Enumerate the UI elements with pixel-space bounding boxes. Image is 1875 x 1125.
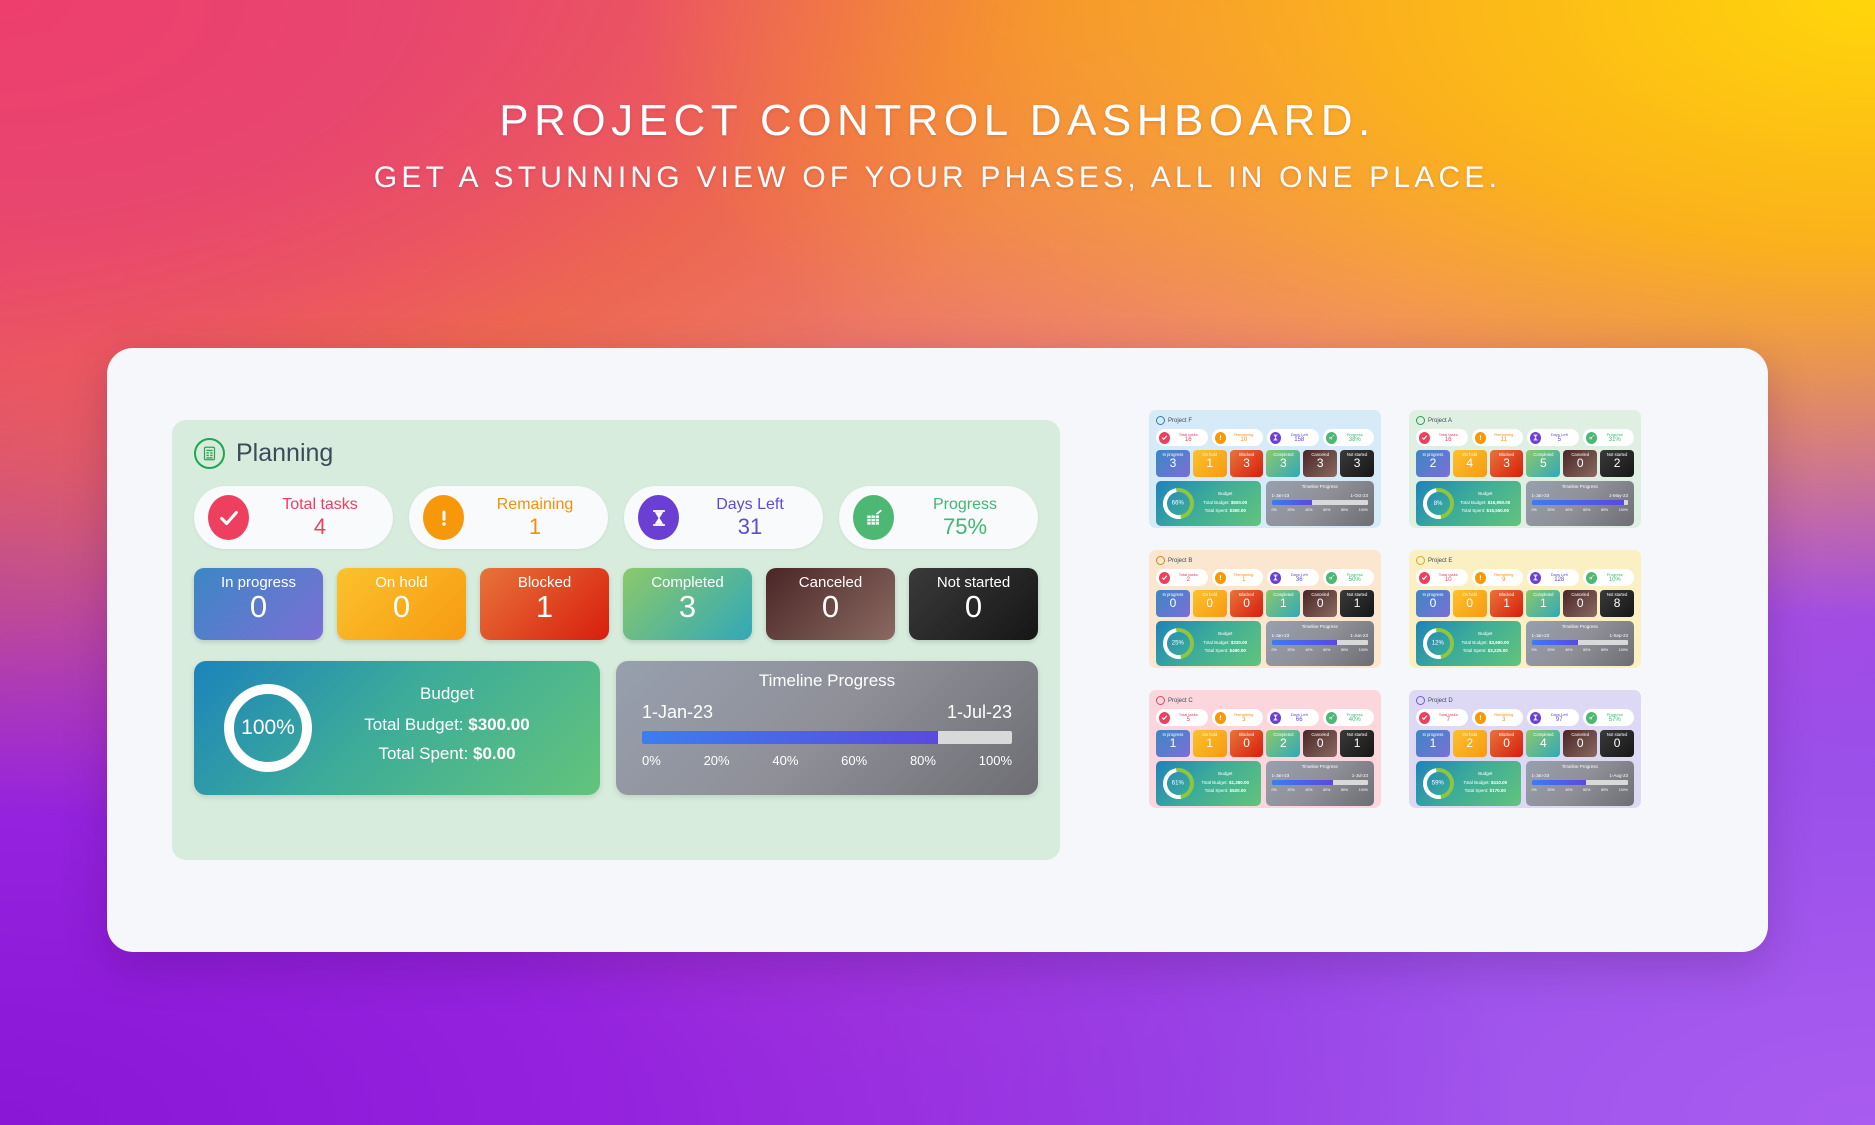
thumbnail-tick: 60% — [1583, 648, 1590, 652]
thumbnail-status-value: 0 — [1230, 597, 1264, 610]
thumbnail-status-row: In progress 1 On hold 1 Blocked 0 Comple… — [1156, 730, 1374, 757]
budget-title: Budget — [312, 684, 582, 704]
thumbnail-budget-card[interactable]: 66% Budget Total Budget: $500.00 Total S… — [1156, 481, 1261, 526]
thumbnail-total-spent-value: $170.00 — [1490, 788, 1506, 793]
thumbnail-kpi-row: Total tasks 10 Remaining 9 Days Left 1 — [1416, 569, 1634, 586]
total-spent-label: Total Spent: — [378, 744, 468, 763]
thumbnail-status-card[interactable]: Blocked 1 — [1490, 590, 1524, 617]
project-thumbnail[interactable]: Project A Total tasks 16 Remaining 11 — [1409, 410, 1641, 528]
thumbnail-tick: 0% — [1532, 648, 1537, 652]
total-budget-row: Total Budget: $300.00 — [312, 715, 582, 735]
status-value: 0 — [766, 589, 895, 625]
thumbnail-total-spent-label: Total Spent: — [1461, 508, 1485, 513]
thumbnail-total-budget-label: Total Budget: — [1201, 780, 1227, 785]
thumbnail-status-card[interactable]: In progress 0 — [1156, 590, 1190, 617]
thumbnail-budget-donut: 59% — [1417, 762, 1460, 805]
thumbnail-kpi-value: 1 — [1228, 577, 1261, 583]
thumbnail-tick: 80% — [1601, 508, 1608, 512]
thumbnail-tick: 100% — [1359, 648, 1368, 652]
thumbnail-status-card[interactable]: Completed 4 — [1526, 730, 1560, 757]
exclamation-icon — [1215, 432, 1226, 444]
thumbnail-timeline-dates: 1-Jan-23 1-Aug-23 — [1532, 773, 1629, 778]
thumbnail-timeline-start: 1-Jan-23 — [1272, 773, 1290, 778]
exclamation-icon — [423, 495, 464, 540]
thumbnail-tick: 0% — [1272, 508, 1277, 512]
thumbnail-budget-percent: 8% — [1434, 500, 1443, 506]
thumbnail-status-card[interactable]: In progress 3 — [1156, 450, 1190, 477]
project-thumbnail[interactable]: Project C Total tasks 5 Remaining 3 — [1149, 690, 1381, 808]
thumbnail-status-card[interactable]: Completed 3 — [1266, 450, 1300, 477]
exclamation-icon — [1475, 572, 1486, 584]
thumbnail-kpi[interactable]: Days Left 36 — [1267, 569, 1319, 586]
status-value: 0 — [909, 589, 1038, 625]
thumbnail-budget-percent: 66% — [1172, 500, 1184, 506]
thumbnail-kpi[interactable]: Remaining 3 — [1212, 709, 1264, 726]
exclamation-icon — [1475, 432, 1486, 444]
thumbnail-status-value: 1 — [1490, 597, 1524, 610]
thumbnail-total-spent: Total Spent: $3,225.00 — [1454, 648, 1517, 653]
status-card-not-started[interactable]: Not started 0 — [909, 568, 1038, 640]
thumbnail-kpi[interactable]: Progress 40% — [1323, 709, 1375, 726]
thumbnail-kpi-value: 158 — [1283, 437, 1316, 443]
thumbnail-total-budget-value: $16,950.00 — [1488, 500, 1511, 505]
thumbnail-kpi[interactable]: Progress 57% — [1583, 709, 1635, 726]
timeline-tick: 40% — [772, 753, 798, 768]
hourglass-icon — [638, 495, 679, 540]
thumbnail-total-budget: Total Budget: $1,350.00 — [1194, 780, 1257, 785]
project-thumbnail[interactable]: Project E Total tasks 10 Remaining 9 — [1409, 550, 1641, 668]
thumbnail-kpi[interactable]: Days Left 128 — [1527, 569, 1579, 586]
status-value: 0 — [194, 589, 323, 625]
thumbnail-kpi[interactable]: Remaining 11 — [1472, 429, 1524, 446]
thumbnail-status-row: In progress 1 On hold 2 Blocked 0 Comple… — [1416, 730, 1634, 757]
clipboard-icon — [1416, 696, 1425, 705]
thumbnail-timeline-title: Timeline Progress — [1532, 484, 1629, 489]
thumbnail-total-budget: Total Budget: $500.00 — [1194, 500, 1257, 505]
kpi-label: Remaining — [476, 496, 594, 514]
project-thumbnail[interactable]: Project B Total tasks 2 Remaining 1 — [1149, 550, 1381, 668]
thumbnail-kpi[interactable]: Remaining 3 — [1472, 709, 1524, 726]
thumbnail-status-card[interactable]: Canceled 0 — [1563, 450, 1597, 477]
thumbnail-tick: 80% — [1341, 648, 1348, 652]
thumbnail-tick: 60% — [1583, 788, 1590, 792]
hourglass-icon — [1270, 712, 1281, 724]
thumbnail-axis-ticks: 0%20%40%60%80%100% — [1532, 648, 1629, 652]
kpi-days-left[interactable]: Days Left 31 — [624, 486, 823, 549]
thumbnail-budget-card[interactable]: 59% Budget Total Budget: $410.00 Total S… — [1416, 761, 1521, 806]
thumbnail-total-budget-label: Total Budget: — [1203, 500, 1229, 505]
thumbnail-kpi-value: 11 — [1488, 437, 1521, 443]
thumbnail-status-value: 2 — [1266, 737, 1300, 750]
thumbnail-status-value: 1 — [1526, 597, 1560, 610]
thumbnail-header: Project C — [1156, 696, 1374, 705]
thumbnail-status-value: 0 — [1490, 737, 1524, 750]
thumbnail-tick: 40% — [1565, 508, 1572, 512]
thumbnail-budget-donut: 61% — [1157, 762, 1200, 805]
thumbnail-timeline-start: 1-Jan-23 — [1532, 773, 1550, 778]
thumbnail-total-spent-value: $520.00 — [1230, 788, 1246, 793]
thumbnail-status-card[interactable]: On hold 1 — [1193, 450, 1227, 477]
thumbnail-timeline-start: 1-Jan-23 — [1272, 633, 1290, 638]
thumbnail-status-card[interactable]: Canceled 0 — [1303, 730, 1337, 757]
thumbnail-kpi[interactable]: Progress 31% — [1583, 429, 1635, 446]
project-thumbnail[interactable]: Project D Total tasks 7 Remaining 3 — [1409, 690, 1641, 808]
thumbnail-timeline-card[interactable]: Timeline Progress 1-Jan-23 1-May-23 0%20… — [1526, 481, 1635, 526]
status-card-on-hold[interactable]: On hold 0 — [337, 568, 466, 640]
thumbnail-status-card[interactable]: Canceled 0 — [1563, 730, 1597, 757]
thumbnail-progress-fill — [1272, 500, 1313, 505]
thumbnail-total-budget: Total Budget: $16,950.00 — [1454, 500, 1517, 505]
thumbnail-status-row: In progress 2 On hold 4 Blocked 3 Comple… — [1416, 450, 1634, 477]
thumbnail-status-card[interactable]: Blocked 0 — [1230, 730, 1264, 757]
thumbnail-budget-donut: 12% — [1417, 622, 1460, 665]
progress-chart-icon — [1586, 712, 1597, 724]
thumbnail-budget-donut: 66% — [1157, 482, 1200, 525]
thumbnail-kpi-value: 31% — [1599, 437, 1632, 443]
timeline-tick: 20% — [704, 753, 730, 768]
thumbnail-kpi[interactable]: Progress 50% — [1323, 569, 1375, 586]
thumbnail-kpi-row: Total tasks 7 Remaining 3 Days Left 97 — [1416, 709, 1634, 726]
thumbnail-timeline-dates: 1-Jan-23 1-May-23 — [1532, 493, 1629, 498]
thumbnail-status-value: 1 — [1193, 457, 1227, 470]
thumbnail-tick: 20% — [1547, 508, 1554, 512]
thumbnail-tick: 20% — [1287, 648, 1294, 652]
thumbnail-header: Project E — [1416, 556, 1634, 565]
kpi-label: Progress — [906, 496, 1024, 514]
thumbnail-total-spent: Total Spent: $520.00 — [1194, 788, 1257, 793]
thumbnail-timeline-card[interactable]: Timeline Progress 1-Jan-23 1-Sep-23 0%20… — [1526, 621, 1635, 666]
thumbnail-progress-fill — [1532, 500, 1625, 505]
thumbnail-kpi[interactable]: Total tasks 7 — [1416, 709, 1468, 726]
thumbnail-tick: 100% — [1619, 648, 1628, 652]
thumbnail-status-value: 0 — [1156, 597, 1190, 610]
timeline-progress-bar[interactable] — [642, 731, 1012, 744]
thumbnail-status-card[interactable]: Not started 3 — [1340, 450, 1374, 477]
thumbnail-status-card[interactable]: Canceled 0 — [1563, 590, 1597, 617]
thumbnail-status-card[interactable]: Completed 5 — [1526, 450, 1560, 477]
thumbnail-kpi[interactable]: Total tasks 16 — [1156, 429, 1208, 446]
project-thumbnail[interactable]: Project F Total tasks 16 Remaining 10 — [1149, 410, 1381, 528]
thumbnail-timeline-dates: 1-Jan-23 1-Jun-23 — [1272, 633, 1369, 638]
thumbnail-status-card[interactable]: On hold 4 — [1453, 450, 1487, 477]
thumbnail-status-card[interactable]: Completed 1 — [1266, 590, 1300, 617]
thumbnail-axis-ticks: 0%20%40%60%80%100% — [1272, 508, 1369, 512]
thumbnail-tick: 20% — [1287, 508, 1294, 512]
thumbnail-project-name: Project C — [1168, 698, 1193, 704]
thumbnail-status-card[interactable]: In progress 1 — [1416, 730, 1450, 757]
thumbnail-status-card[interactable]: Blocked 0 — [1230, 590, 1264, 617]
thumbnail-kpi[interactable]: Remaining 1 — [1212, 569, 1264, 586]
thumbnail-tick: 40% — [1565, 788, 1572, 792]
thumbnail-project-name: Project B — [1168, 558, 1192, 564]
thumbnail-budget-card[interactable]: 25% Budget Total Budget: $330.00 Total S… — [1156, 621, 1261, 666]
thumbnail-header: Project F — [1156, 416, 1374, 425]
status-value: 3 — [623, 589, 752, 625]
thumbnail-status-value: 1 — [1340, 597, 1374, 610]
thumbnail-progress-fill — [1532, 640, 1578, 645]
total-spent-row: Total Spent: $0.00 — [312, 744, 582, 764]
thumbnail-status-value: 0 — [1303, 597, 1337, 610]
thumbnail-header: Project D — [1416, 696, 1634, 705]
clipboard-icon — [1416, 556, 1425, 565]
thumbnail-total-spent-value: $3,225.00 — [1488, 648, 1508, 653]
thumbnail-status-value: 0 — [1563, 457, 1597, 470]
thumbnail-tick: 80% — [1341, 788, 1348, 792]
thumbnail-status-value: 0 — [1230, 737, 1264, 750]
thumbnail-budget-donut: 25% — [1157, 622, 1200, 665]
exclamation-icon — [1475, 712, 1486, 724]
thumbnail-progress-bar[interactable] — [1532, 500, 1629, 505]
progress-chart-icon — [1326, 432, 1337, 444]
thumbnail-progress-bar[interactable] — [1532, 640, 1629, 645]
check-circle-icon — [1159, 432, 1170, 444]
thumbnail-status-card[interactable]: Canceled 3 — [1303, 450, 1337, 477]
hourglass-icon — [1530, 712, 1541, 724]
thumbnail-kpi-row: Total tasks 16 Remaining 10 Days Left — [1156, 429, 1374, 446]
thumbnail-tick: 40% — [1305, 648, 1312, 652]
thumbnail-budget-card[interactable]: 8% Budget Total Budget: $16,950.00 Total… — [1416, 481, 1521, 526]
thumbnail-total-budget-value: $410.00 — [1491, 780, 1507, 785]
thumbnail-tick: 80% — [1601, 648, 1608, 652]
thumbnail-status-value: 4 — [1526, 737, 1560, 750]
thumbnail-progress-bar[interactable] — [1272, 780, 1369, 785]
thumbnail-project-name: Project D — [1428, 698, 1453, 704]
thumbnail-kpi[interactable]: Days Left 97 — [1527, 709, 1579, 726]
status-card-completed[interactable]: Completed 3 — [623, 568, 752, 640]
kpi-remaining[interactable]: Remaining 1 — [409, 486, 608, 549]
bottom-row: 100% Budget Total Budget: $300.00 Total … — [194, 661, 1038, 795]
kpi-label: Total tasks — [261, 496, 379, 514]
thumbnail-total-spent: Total Spent: $350.00 — [1194, 508, 1257, 513]
thumbnail-progress-fill — [1272, 640, 1338, 645]
thumbnail-total-spent-label: Total Spent: — [1205, 788, 1229, 793]
thumbnail-tick: 0% — [1532, 508, 1537, 512]
thumbnail-timeline-end: 1-Sep-23 — [1609, 633, 1628, 638]
thumbnail-tick: 20% — [1547, 788, 1554, 792]
thumbnail-timeline-dates: 1-Jan-23 1-Oct-23 — [1272, 493, 1369, 498]
thumbnail-total-budget: Total Budget: $3,690.00 — [1454, 640, 1517, 645]
clipboard-icon — [1416, 416, 1425, 425]
thumbnail-kpi-row: Total tasks 5 Remaining 3 Days Left 66 — [1156, 709, 1374, 726]
thumbnail-status-row: In progress 3 On hold 1 Blocked 3 Comple… — [1156, 450, 1374, 477]
thumbnail-status-card[interactable]: Completed 1 — [1526, 590, 1560, 617]
thumbnail-status-value: 3 — [1490, 457, 1524, 470]
thumbnail-tick: 0% — [1272, 648, 1277, 652]
thumbnail-status-card[interactable]: Not started 2 — [1600, 450, 1634, 477]
timeline-tick: 60% — [841, 753, 867, 768]
thumbnail-tick: 60% — [1583, 508, 1590, 512]
thumbnail-timeline-end: 1-Jul-23 — [1352, 773, 1368, 778]
thumbnail-kpi-value: 97 — [1543, 717, 1576, 723]
thumbnail-tick: 0% — [1272, 788, 1277, 792]
thumbnail-kpi-value: 57% — [1599, 717, 1632, 723]
progress-chart-icon — [1326, 572, 1337, 584]
timeline-dates: 1-Jan-23 1-Jul-23 — [642, 702, 1012, 723]
thumbnail-kpi[interactable]: Days Left 158 — [1267, 429, 1319, 446]
thumbnail-kpi[interactable]: Progress 38% — [1323, 429, 1375, 446]
exclamation-icon — [1215, 572, 1226, 584]
check-circle-icon — [1419, 432, 1430, 444]
thumbnail-kpi[interactable]: Total tasks 10 — [1416, 569, 1468, 586]
thumbnail-tick: 40% — [1305, 508, 1312, 512]
clipboard-icon — [1156, 556, 1165, 565]
thumbnail-status-value: 0 — [1600, 737, 1634, 750]
thumbnail-tick: 20% — [1287, 788, 1294, 792]
thumbnail-timeline-dates: 1-Jan-23 1-Sep-23 — [1532, 633, 1629, 638]
thumbnail-status-value: 1 — [1266, 597, 1300, 610]
thumbnail-total-spent: Total Spent: $490.00 — [1194, 648, 1257, 653]
thumbnail-budget-card[interactable]: 12% Budget Total Budget: $3,690.00 Total… — [1416, 621, 1521, 666]
kpi-total-tasks[interactable]: Total tasks 4 — [194, 486, 393, 549]
thumbnail-kpi-value: 9 — [1488, 577, 1521, 583]
thumbnail-status-card[interactable]: Canceled 0 — [1303, 590, 1337, 617]
thumbnail-timeline-card[interactable]: Timeline Progress 1-Jan-23 1-Jun-23 0%20… — [1266, 621, 1375, 666]
thumbnail-tick: 0% — [1532, 788, 1537, 792]
thumbnail-status-card[interactable]: On hold 1 — [1193, 730, 1227, 757]
dashboard-panel: Planning Total tasks 4 Remaining — [107, 348, 1768, 952]
thumbnail-status-card[interactable]: Blocked 3 — [1490, 450, 1524, 477]
thumbnail-kpi-value: 7 — [1432, 717, 1465, 723]
thumbnail-budget-title: Budget — [1194, 771, 1257, 776]
clipboard-icon — [1156, 416, 1165, 425]
timeline-tick: 0% — [642, 753, 661, 768]
thumbnail-total-spent-value: $490.00 — [1230, 648, 1246, 653]
thumbnail-status-value: 0 — [1193, 597, 1227, 610]
thumbnail-progress-bar[interactable] — [1272, 500, 1369, 505]
status-row: In progress 0 On hold 0 Blocked 1 Comple… — [194, 568, 1038, 640]
thumbnail-status-value: 3 — [1156, 457, 1190, 470]
thumbnail-status-card[interactable]: Blocked 0 — [1490, 730, 1524, 757]
thumbnail-kpi[interactable]: Total tasks 16 — [1416, 429, 1468, 446]
thumbnail-status-card[interactable]: Blocked 3 — [1230, 450, 1264, 477]
thumbnail-status-card[interactable]: In progress 1 — [1156, 730, 1190, 757]
thumbnail-axis-ticks: 0%20%40%60%80%100% — [1532, 508, 1629, 512]
thumbnail-tick: 60% — [1323, 788, 1330, 792]
thumbnail-status-card[interactable]: On hold 0 — [1193, 590, 1227, 617]
thumbnail-timeline-end: 1-May-23 — [1609, 493, 1628, 498]
kpi-row: Total tasks 4 Remaining 1 — [194, 486, 1038, 549]
thumbnail-tick: 80% — [1341, 508, 1348, 512]
thumbnail-status-row: In progress 0 On hold 0 Blocked 0 Comple… — [1156, 590, 1374, 617]
hourglass-icon — [1530, 432, 1541, 444]
thumbnail-axis-ticks: 0%20%40%60%80%100% — [1272, 788, 1369, 792]
thumbnail-total-spent-value: $15,550.00 — [1487, 508, 1510, 513]
thumbnail-kpi[interactable]: Total tasks 2 — [1156, 569, 1208, 586]
thumbnail-budget-donut: 8% — [1417, 482, 1460, 525]
thumbnail-status-value: 0 — [1303, 737, 1337, 750]
timeline-tick: 80% — [910, 753, 936, 768]
thumbnail-bottom-row: 59% Budget Total Budget: $410.00 Total S… — [1416, 761, 1634, 806]
status-value: 0 — [337, 589, 466, 625]
thumbnail-total-spent: Total Spent: $15,550.00 — [1454, 508, 1517, 513]
clipboard-icon — [194, 438, 225, 469]
status-card-canceled[interactable]: Canceled 0 — [766, 568, 895, 640]
clipboard-icon — [1156, 696, 1165, 705]
timeline-tick: 100% — [979, 753, 1012, 768]
thumbnail-status-card[interactable]: Not started 1 — [1340, 730, 1374, 757]
thumbnail-status-card[interactable]: Not started 0 — [1600, 730, 1634, 757]
budget-card[interactable]: 100% Budget Total Budget: $300.00 Total … — [194, 661, 600, 795]
thumbnail-timeline-card[interactable]: Timeline Progress 1-Jan-23 1-Oct-23 0%20… — [1266, 481, 1375, 526]
kpi-progress[interactable]: Progress 75% — [839, 486, 1038, 549]
thumbnail-budget-title: Budget — [1454, 771, 1517, 776]
thumbnail-kpi-value: 50% — [1339, 577, 1372, 583]
thumbnail-timeline-end: 1-Aug-23 — [1609, 773, 1628, 778]
thumbnail-progress-bar[interactable] — [1272, 640, 1369, 645]
thumbnail-tick: 60% — [1323, 648, 1330, 652]
thumbnail-status-value: 0 — [1563, 597, 1597, 610]
thumbnail-status-card[interactable]: In progress 2 — [1416, 450, 1450, 477]
thumbnail-total-budget-value: $1,350.00 — [1229, 780, 1249, 785]
check-circle-icon — [1419, 712, 1430, 724]
thumbnail-budget-percent: 12% — [1432, 640, 1444, 646]
page-subtitle: GET A STUNNING VIEW OF YOUR PHASES, ALL … — [0, 161, 1875, 195]
thumbnail-timeline-card[interactable]: Timeline Progress 1-Jan-23 1-Aug-23 0%20… — [1526, 761, 1635, 806]
thumbnail-tick: 100% — [1619, 788, 1628, 792]
timeline-axis-ticks: 0%20%40%60%80%100% — [642, 753, 1012, 768]
phase-card-planning[interactable]: Planning Total tasks 4 Remaining — [172, 420, 1060, 860]
thumbnail-status-card[interactable]: On hold 0 — [1453, 590, 1487, 617]
project-thumbnail-grid: Project F Total tasks 16 Remaining 10 — [1149, 410, 1654, 808]
thumbnail-status-value: 2 — [1453, 737, 1487, 750]
thumbnail-status-card[interactable]: In progress 0 — [1416, 590, 1450, 617]
thumbnail-kpi[interactable]: Remaining 9 — [1472, 569, 1524, 586]
check-circle-icon — [1159, 712, 1170, 724]
thumbnail-status-value: 4 — [1453, 457, 1487, 470]
thumbnail-status-card[interactable]: Not started 1 — [1340, 590, 1374, 617]
status-card-in-progress[interactable]: In progress 0 — [194, 568, 323, 640]
timeline-card[interactable]: Timeline Progress 1-Jan-23 1-Jul-23 0%20… — [616, 661, 1038, 795]
thumbnail-status-card[interactable]: Not started 8 — [1600, 590, 1634, 617]
thumbnail-kpi-value: 5 — [1172, 717, 1205, 723]
hourglass-icon — [1530, 572, 1541, 584]
thumbnail-status-card[interactable]: On hold 2 — [1453, 730, 1487, 757]
timeline-title: Timeline Progress — [642, 671, 1012, 691]
thumbnail-tick: 40% — [1565, 648, 1572, 652]
thumbnail-kpi-value: 66 — [1283, 717, 1316, 723]
kpi-value: 1 — [476, 514, 594, 539]
thumbnail-total-budget-value: $330.00 — [1231, 640, 1247, 645]
phase-title-row: Planning — [194, 438, 1038, 469]
thumbnail-status-value: 1 — [1156, 737, 1190, 750]
thumbnail-kpi[interactable]: Days Left 5 — [1527, 429, 1579, 446]
thumbnail-total-budget: Total Budget: $410.00 — [1454, 780, 1517, 785]
thumbnail-kpi[interactable]: Progress 10% — [1583, 569, 1635, 586]
thumbnail-status-value: 0 — [1563, 737, 1597, 750]
thumbnail-timeline-card[interactable]: Timeline Progress 1-Jan-23 1-Jul-23 0%20… — [1266, 761, 1375, 806]
thumbnail-timeline-end: 1-Oct-23 — [1350, 493, 1368, 498]
timeline-start-date: 1-Jan-23 — [642, 702, 713, 723]
budget-donut: 100% — [224, 684, 312, 772]
thumbnail-kpi[interactable]: Remaining 10 — [1212, 429, 1264, 446]
thumbnail-budget-card[interactable]: 61% Budget Total Budget: $1,350.00 Total… — [1156, 761, 1261, 806]
thumbnail-kpi[interactable]: Total tasks 5 — [1156, 709, 1208, 726]
thumbnail-timeline-start: 1-Jan-23 — [1272, 493, 1290, 498]
thumbnail-kpi-value: 36 — [1283, 577, 1316, 583]
kpi-label: Days Left — [691, 496, 809, 514]
timeline-progress-fill — [642, 731, 938, 744]
phase-name: Planning — [236, 439, 333, 468]
thumbnail-total-budget-label: Total Budget: — [1463, 780, 1489, 785]
thumbnail-kpi-value: 16 — [1432, 437, 1465, 443]
thumbnail-status-value: 0 — [1416, 597, 1450, 610]
thumbnail-progress-bar[interactable] — [1532, 780, 1629, 785]
thumbnail-status-value: 8 — [1600, 597, 1634, 610]
status-card-blocked[interactable]: Blocked 1 — [480, 568, 609, 640]
thumbnail-kpi[interactable]: Days Left 66 — [1267, 709, 1319, 726]
thumbnail-timeline-title: Timeline Progress — [1272, 764, 1369, 769]
thumbnail-status-card[interactable]: Completed 2 — [1266, 730, 1300, 757]
